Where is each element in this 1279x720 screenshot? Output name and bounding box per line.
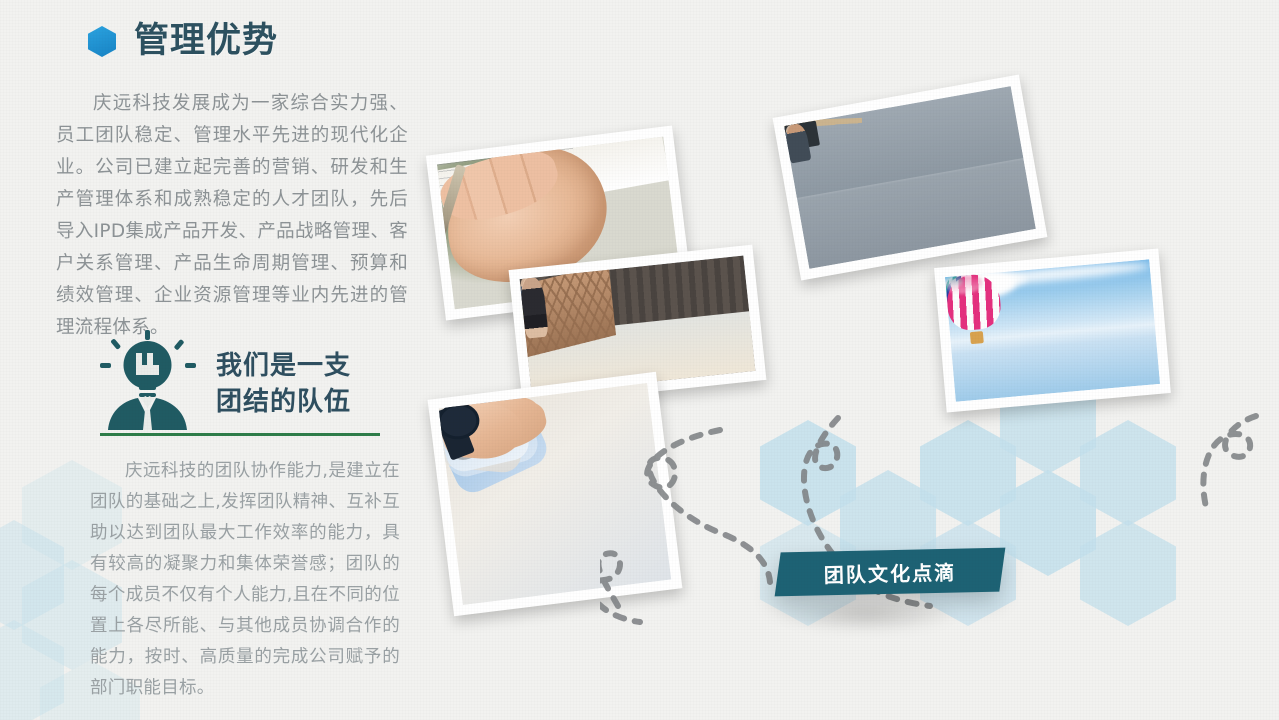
hexagon-watermark [1080, 520, 1176, 626]
page-title-row: 管理优势 [88, 24, 278, 59]
team-heading-line-1: 我们是一支 [216, 348, 351, 384]
page-title: 管理优势 [134, 24, 278, 59]
team-heading: 我们是一支 团结的队伍 [216, 330, 351, 420]
photo-office[interactable] [773, 75, 1048, 281]
hexagon-watermark [0, 520, 64, 630]
heading-underline [100, 433, 380, 436]
photo-balloons-image [945, 259, 1160, 401]
slide-canvas: 管理优势 庆远科技发展成为一家综合实力强、员工团队稳定、管理水平先进的现代化企业… [0, 0, 1279, 720]
team-heading-block: 我们是一支 团结的队伍 [100, 330, 351, 430]
hexagon-icon [88, 26, 116, 57]
hexagon-watermark [760, 420, 856, 526]
hexagon-watermark [1080, 420, 1176, 526]
team-heading-line-2: 团结的队伍 [216, 384, 351, 420]
hexagon-watermark [920, 420, 1016, 526]
photo-hands-image [439, 383, 672, 605]
team-paragraph: 庆远科技的团队协作能力,是建立在团队的基础之上,发挥团队精神、互补互助以达到团队… [90, 456, 400, 704]
photo-balloons[interactable] [934, 248, 1171, 412]
team-culture-badge-label: 团队文化点滴 [777, 548, 1003, 597]
photo-office-image [784, 86, 1036, 269]
lightbulb-person-icon [100, 330, 196, 430]
hexagon-watermark [1000, 470, 1096, 576]
team-paragraph-block: 庆远科技的团队协作能力,是建立在团队的基础之上,发挥团队精神、互补互助以达到团队… [90, 456, 400, 704]
team-culture-badge[interactable]: 团队文化点滴 [775, 548, 1006, 597]
hexagon-watermark [0, 620, 64, 720]
intro-paragraph: 庆远科技发展成为一家综合实力强、员工团队稳定、管理水平先进的现代化企业。公司已建… [56, 88, 408, 344]
photo-hands[interactable] [428, 372, 683, 616]
badge-shadow [742, 592, 992, 638]
intro-paragraph-block: 庆远科技发展成为一家综合实力强、员工团队稳定、管理水平先进的现代化企业。公司已建… [56, 88, 408, 344]
